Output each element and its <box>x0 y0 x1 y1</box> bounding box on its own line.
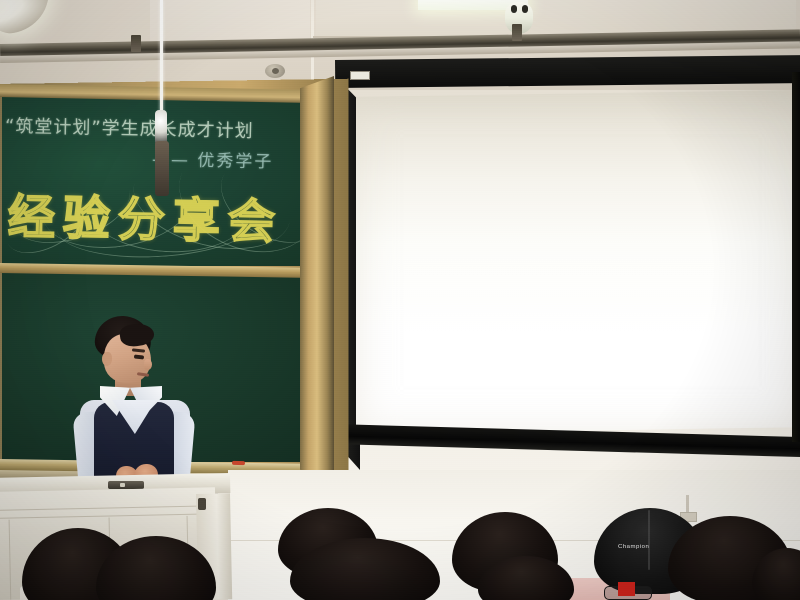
podium-control-slot[interactable] <box>108 481 144 489</box>
red-chalk-icon[interactable] <box>232 461 245 465</box>
screen-housing <box>335 55 800 88</box>
housing-label-sticker <box>350 71 370 80</box>
baseball-cap-logo: Champion <box>618 544 649 549</box>
blackboard-heading-line-2: —— 优秀学子 <box>152 145 352 174</box>
projection-screen[interactable] <box>356 90 800 434</box>
podium-panel-line-1 <box>0 505 215 511</box>
audience-hair-2 <box>96 536 216 600</box>
blackboard-right-frame <box>300 76 334 486</box>
student-nose <box>144 359 152 370</box>
dome-sensor-right <box>522 5 528 13</box>
podium-divider-1 <box>9 520 12 600</box>
dome-sensor-left <box>511 5 517 13</box>
rail-bracket-right <box>512 24 522 41</box>
podium-latch[interactable] <box>198 498 206 510</box>
baseball-cap-seam <box>648 510 650 570</box>
recessed-light-glow <box>0 0 13 24</box>
audience-head-2 <box>96 536 216 600</box>
audience-hair-7 <box>478 556 574 600</box>
audience-head-9 <box>752 548 800 600</box>
classroom-photo: “筑堂计划”学生成长成才计划 —— 优秀学子 经验分享会 <box>0 0 800 600</box>
pull-cord[interactable] <box>160 0 163 118</box>
audience-hair-9 <box>752 548 800 600</box>
audience-head-7 <box>478 556 574 600</box>
audience-head-5 <box>290 538 440 600</box>
podium-indicator-light <box>120 483 125 487</box>
ceiling-mount-screw <box>272 68 279 74</box>
audience-hair-5 <box>290 538 440 600</box>
red-marker <box>618 582 635 596</box>
rail-bracket-left <box>131 35 141 52</box>
presenting-student <box>60 316 210 496</box>
screen-right-trim <box>792 72 800 442</box>
student-ear <box>102 352 112 366</box>
pull-cord-weight[interactable] <box>155 141 169 196</box>
